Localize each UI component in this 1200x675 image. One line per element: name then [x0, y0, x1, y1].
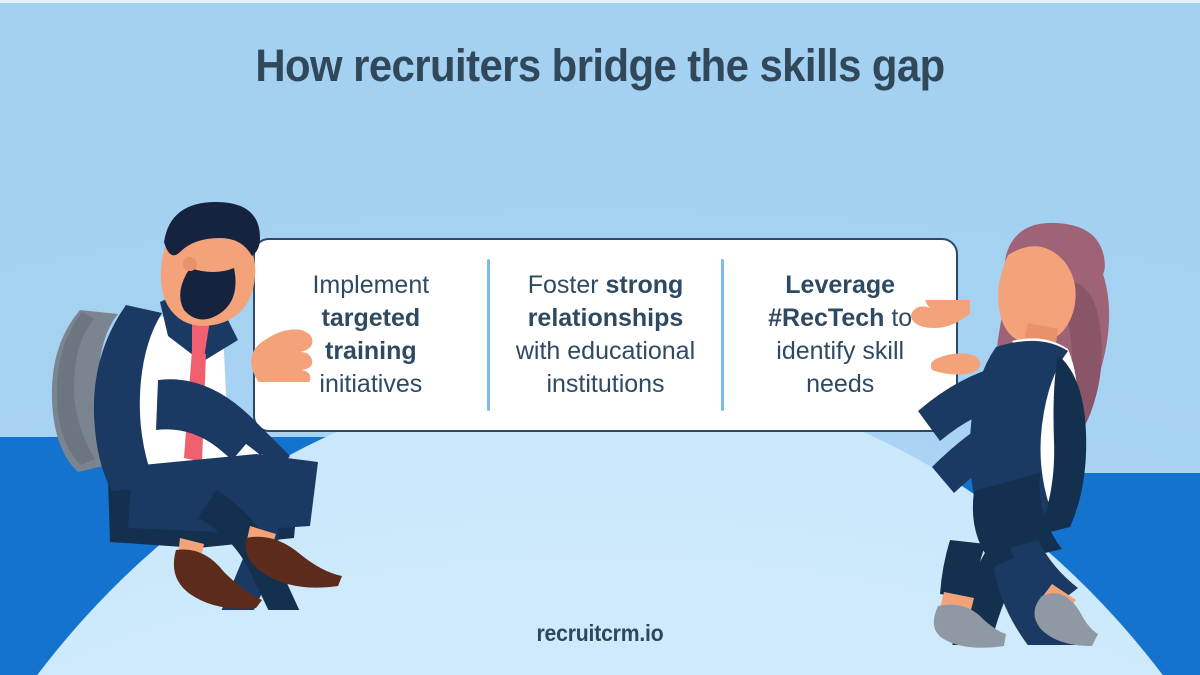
background-top-highlight — [0, 0, 1200, 3]
panel-2-line-1-bold: strong — [606, 271, 684, 299]
hand-right-upper-reaching-icon — [910, 300, 970, 346]
ear — [183, 257, 197, 271]
shoe-left — [174, 549, 262, 608]
panel-2-line-3: with educational — [500, 335, 712, 368]
sneaker-back — [934, 605, 1006, 648]
panel-3-line-2-bold: #RecTech — [768, 304, 884, 332]
illustration-businessman-shoes — [150, 520, 370, 610]
panel-relationships: Foster strong relationships with educati… — [490, 269, 722, 401]
hand-left-reaching-icon — [248, 322, 318, 382]
illustration-businesswoman-shoes — [930, 540, 1150, 650]
panel-2-line-4: institutions — [500, 368, 712, 401]
shin-back — [940, 540, 986, 600]
panel-2-line-2: relationships — [528, 304, 684, 332]
hand-right-upper-palm — [911, 300, 970, 328]
shoe-right — [245, 537, 342, 588]
panel-3-line-1: Leverage — [785, 271, 895, 299]
hand-left-palm — [251, 329, 312, 382]
sneaker-front — [1034, 593, 1098, 646]
infographic-canvas: How recruiters bridge the skills gap — [0, 0, 1200, 675]
hand-right-lower-palm — [931, 354, 980, 375]
page-title: How recruiters bridge the skills gap — [42, 40, 1158, 92]
panel-2-line-1-plain: Foster — [528, 271, 606, 299]
hand-right-lower-reaching-icon — [930, 352, 980, 388]
